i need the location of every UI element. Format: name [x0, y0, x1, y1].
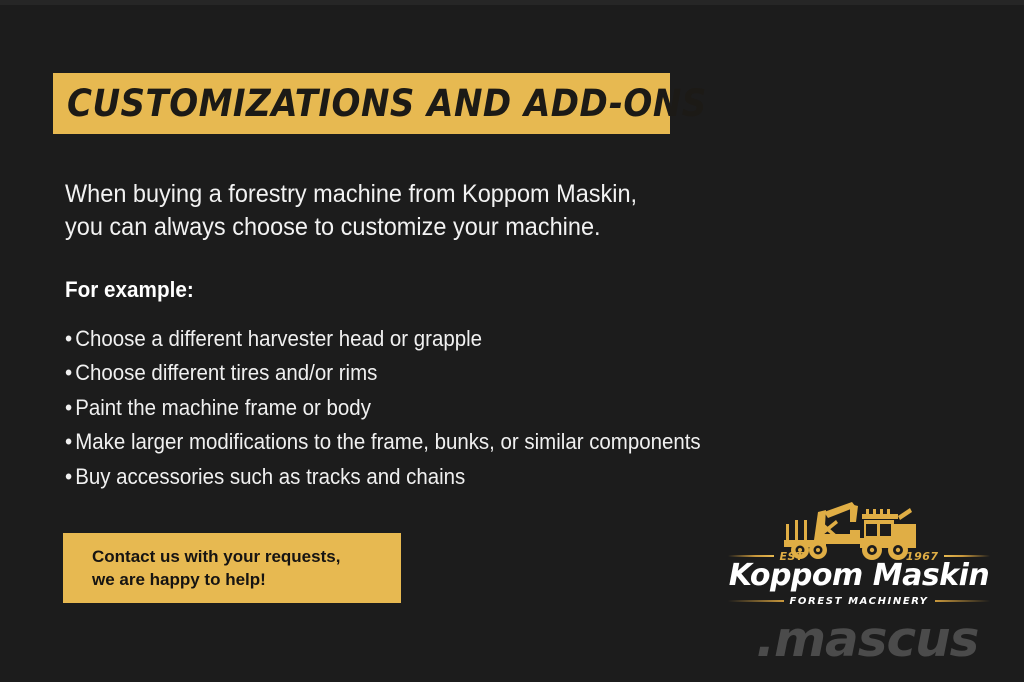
bullet-dot-icon: •	[65, 391, 74, 425]
logo-rule-right	[944, 555, 990, 557]
cta-line-1: Contact us with your requests,	[92, 545, 401, 568]
bullet-dot-icon: •	[65, 460, 74, 494]
mascus-watermark: .mascus	[756, 612, 1024, 668]
contact-cta-box[interactable]: Contact us with your requests, we are ha…	[63, 533, 401, 603]
list-item: •Make larger modifications to the frame,…	[65, 425, 772, 459]
customization-options-list: •Choose a different harvester head or gr…	[65, 322, 825, 494]
bullet-dot-icon: •	[65, 356, 74, 390]
list-item-label: Make larger modifications to the frame, …	[75, 429, 700, 454]
intro-line-1: When buying a forestry machine from Kopp…	[65, 178, 723, 211]
list-item: •Choose a different harvester head or gr…	[65, 322, 772, 356]
list-item: •Choose different tires and/or rims	[65, 356, 772, 390]
for-example-label: For example:	[65, 277, 194, 303]
list-item: •Paint the machine frame or body	[65, 391, 772, 425]
list-item: •Buy accessories such as tracks and chai…	[65, 460, 772, 494]
koppom-maskin-logo: EST 1967 Koppom Maskin FOREST MACHINERY	[728, 500, 990, 610]
logo-rule-left	[728, 555, 774, 557]
top-edge-band	[0, 0, 1024, 5]
page-title: CUSTOMIZATIONS AND ADD-ONS	[67, 82, 707, 125]
logo-tagline: FOREST MACHINERY	[784, 596, 935, 607]
logo-tagline-row: FOREST MACHINERY	[728, 594, 990, 608]
promo-slide: CUSTOMIZATIONS AND ADD-ONS When buying a…	[0, 0, 1024, 682]
bullet-dot-icon: •	[65, 322, 74, 356]
title-banner: CUSTOMIZATIONS AND ADD-ONS	[53, 73, 670, 134]
intro-paragraph: When buying a forestry machine from Kopp…	[65, 178, 723, 244]
bullet-dot-icon: •	[65, 425, 74, 459]
list-item-label: Choose a different harvester head or gra…	[75, 326, 482, 351]
logo-wordmark: Koppom Maskin	[728, 558, 990, 593]
list-item-label: Choose different tires and/or rims	[75, 360, 377, 385]
logo-tagline-rule-right	[935, 600, 991, 602]
list-item-label: Buy accessories such as tracks and chain…	[75, 464, 465, 489]
cta-line-2: we are happy to help!	[92, 568, 401, 591]
list-item-label: Paint the machine frame or body	[75, 395, 371, 420]
logo-tagline-rule-left	[728, 600, 784, 602]
intro-line-2: you can always choose to customize your …	[65, 211, 723, 244]
